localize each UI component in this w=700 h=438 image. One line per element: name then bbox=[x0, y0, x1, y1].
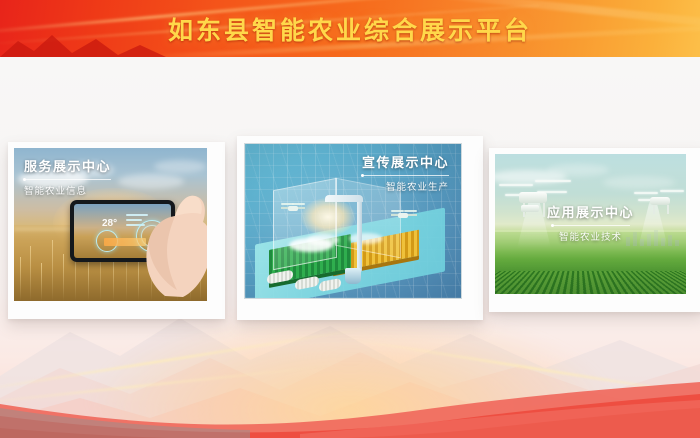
red-wave-ribbons bbox=[0, 358, 700, 438]
card-service-title: 服务展示中心 bbox=[24, 160, 111, 175]
card-publicity-caption: 宣传展示中心 智能农业生产 bbox=[362, 156, 449, 193]
card-service-caption: 服务展示中心 智能农业信息 bbox=[24, 160, 111, 197]
card-publicity[interactable]: 宣传展示中心 智能农业生产 bbox=[237, 136, 483, 320]
card-publicity-image: 宣传展示中心 智能农业生产 bbox=[244, 143, 462, 299]
card-publicity-title: 宣传展示中心 bbox=[362, 156, 449, 171]
caption-divider bbox=[552, 225, 630, 226]
cloud bbox=[154, 160, 206, 173]
street-lamp-pole bbox=[357, 196, 362, 272]
caption-divider bbox=[24, 179, 111, 180]
page-root: 如东县智能农业综合展示平台 bbox=[0, 0, 700, 438]
card-application[interactable]: 应用展示中心 智能农业技术 bbox=[489, 148, 700, 312]
temperature-readout: 28° bbox=[102, 218, 117, 229]
card-application-caption: 应用展示中心 智能农业技术 bbox=[495, 206, 686, 243]
background-ribbons bbox=[0, 358, 700, 438]
card-application-title: 应用展示中心 bbox=[495, 206, 686, 221]
card-publicity-subtitle: 智能农业生产 bbox=[362, 179, 449, 193]
hand-illustration bbox=[135, 178, 207, 298]
glass-panel-left bbox=[273, 178, 337, 270]
cloud bbox=[547, 164, 609, 176]
card-service-image: 28° 服务展示中心 bbox=[14, 148, 207, 301]
water-bucket bbox=[345, 268, 361, 284]
card-service[interactable]: 28° 服务展示中心 bbox=[8, 142, 225, 319]
card-service-subtitle: 智能农业信息 bbox=[24, 183, 111, 197]
page-title: 如东县智能农业综合展示平台 bbox=[0, 0, 700, 57]
card-application-image: 应用展示中心 智能农业技术 bbox=[495, 154, 686, 294]
drone-icon bbox=[281, 202, 305, 212]
street-lamp-arm bbox=[325, 195, 363, 202]
caption-divider bbox=[362, 175, 449, 176]
card-application-subtitle: 智能农业技术 bbox=[495, 229, 686, 243]
header-banner: 如东县智能农业综合展示平台 bbox=[0, 0, 700, 57]
drone-icon bbox=[391, 209, 417, 220]
